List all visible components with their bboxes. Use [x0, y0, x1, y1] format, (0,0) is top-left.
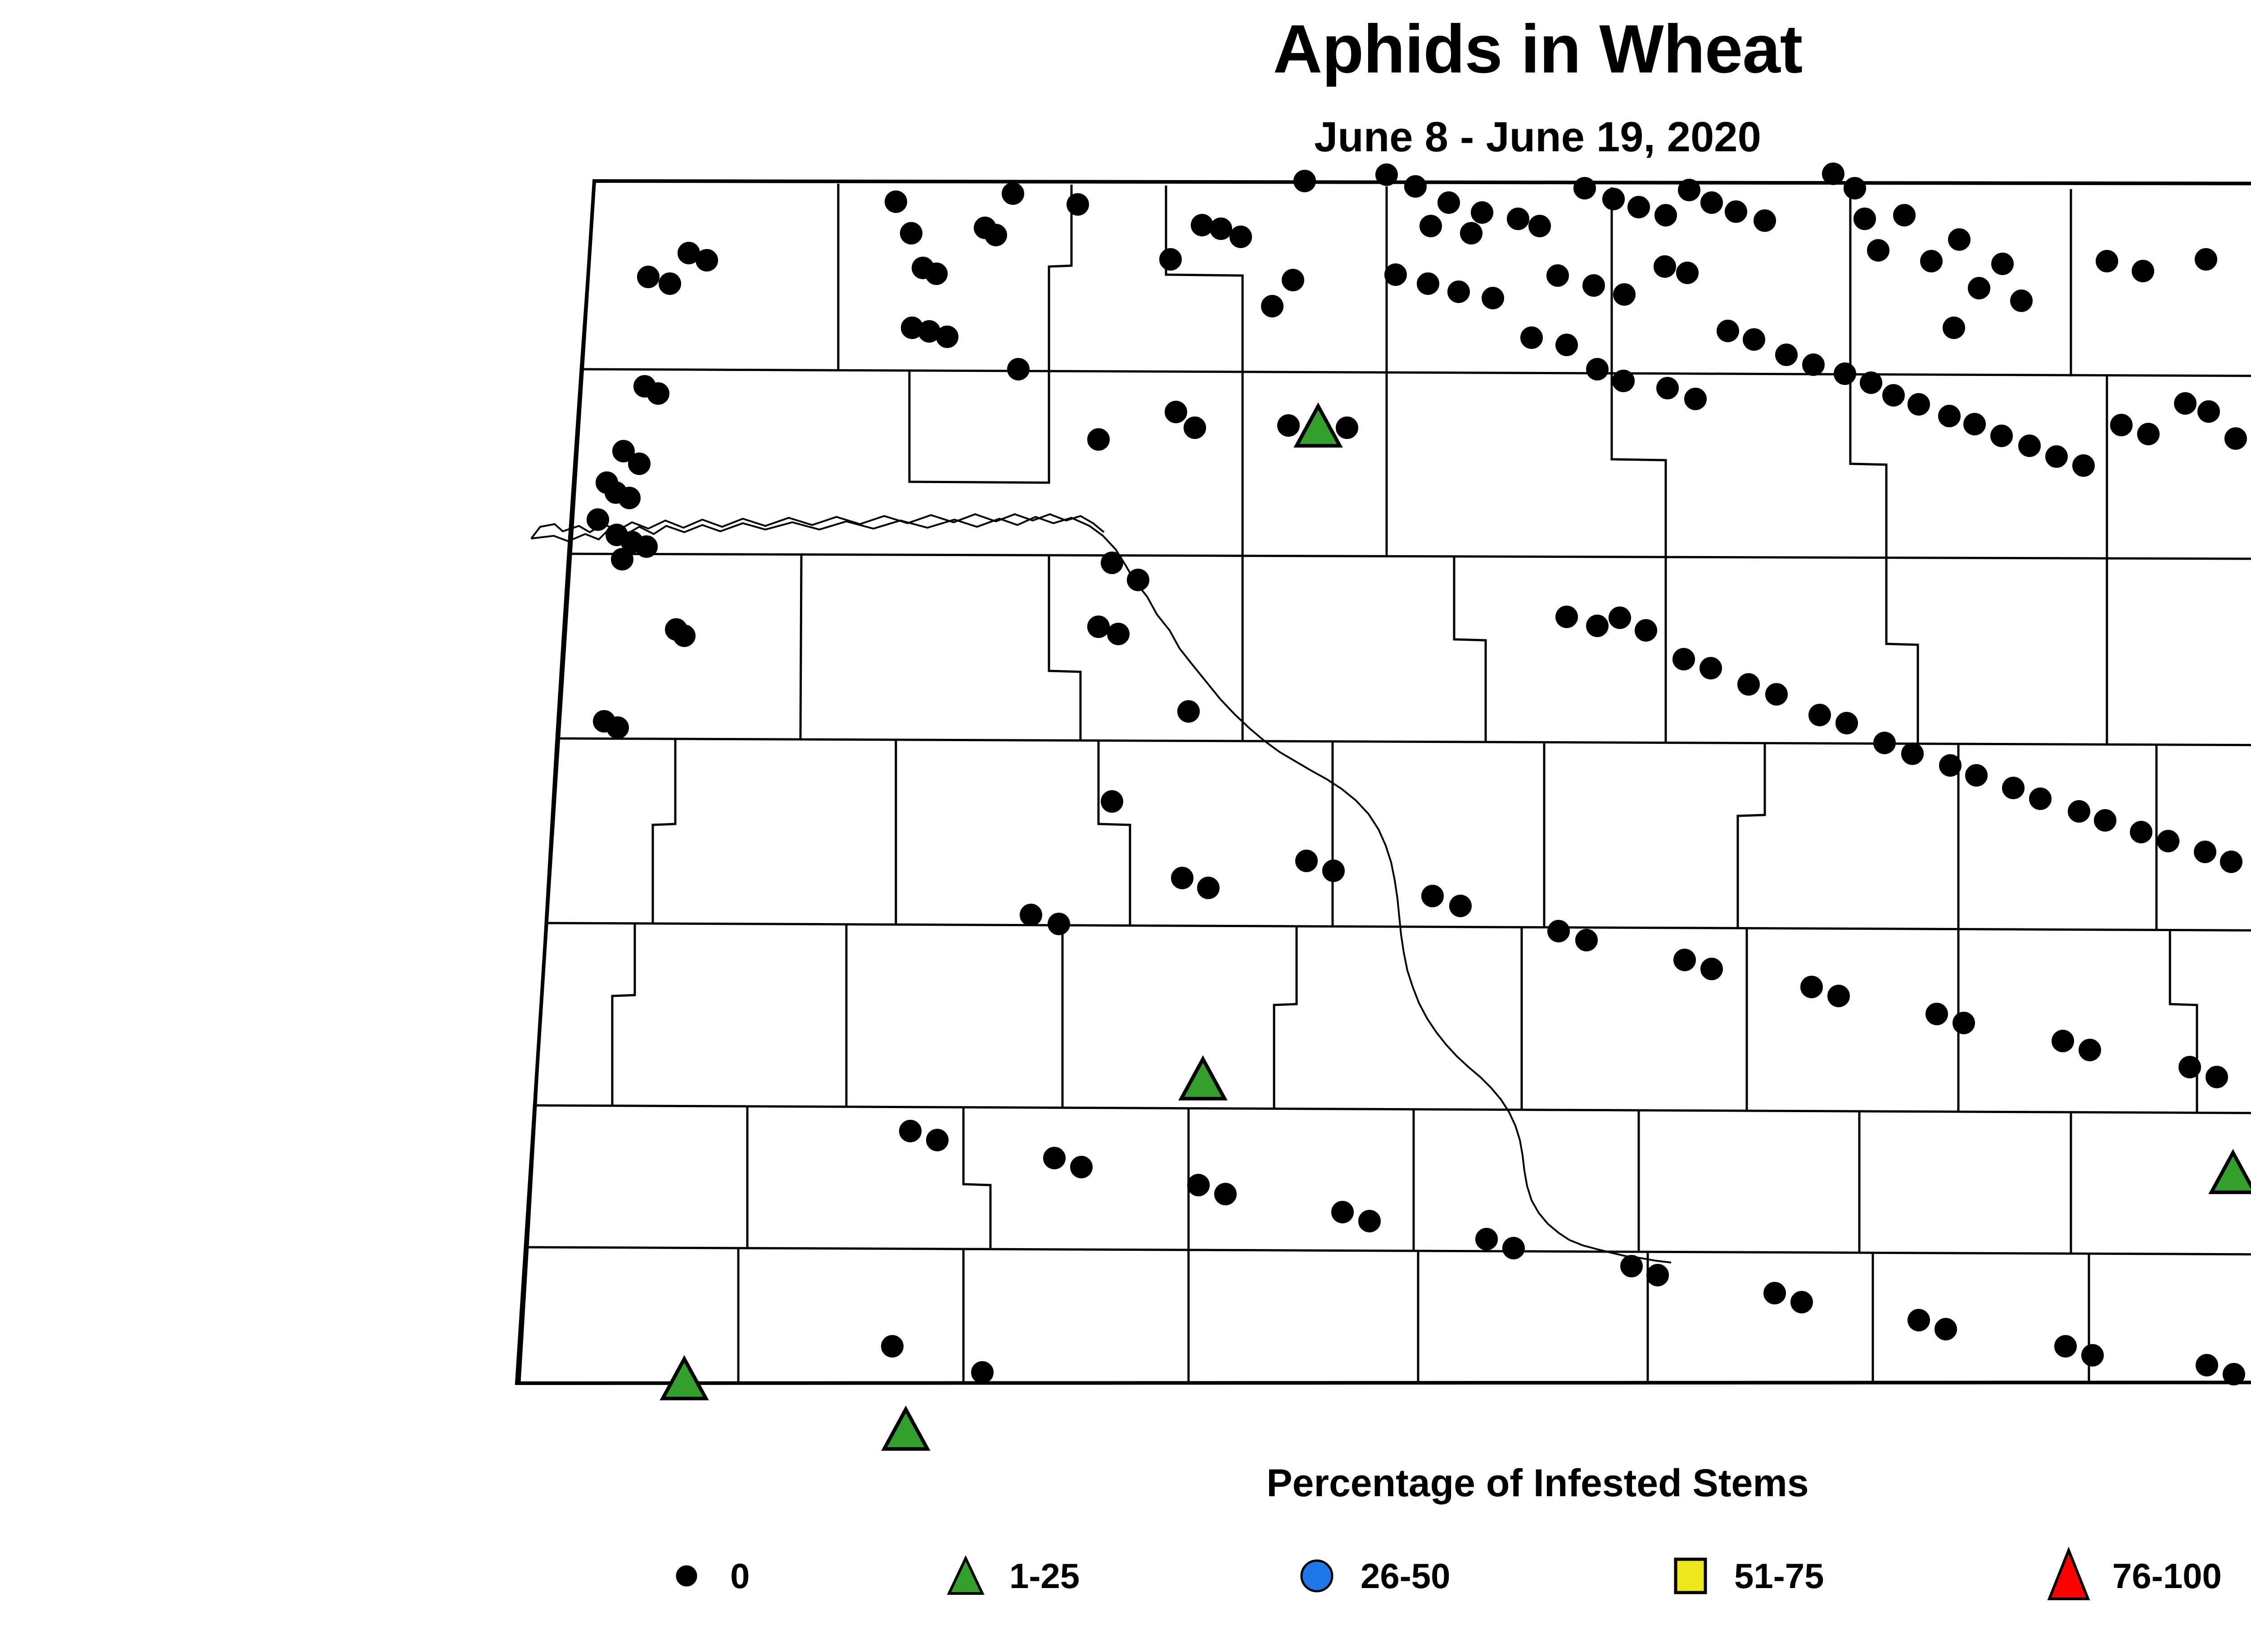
- survey-point: [2196, 1354, 2218, 1376]
- county-line-r2f: [1850, 376, 1886, 558]
- survey-point: [628, 453, 650, 475]
- survey-point: [2079, 1039, 2101, 1061]
- survey-point: [1165, 401, 1187, 423]
- survey-point: [2179, 1056, 2201, 1078]
- legend-label-2: 26-50: [1361, 1556, 1451, 1597]
- survey-point: [885, 191, 907, 213]
- survey-point: [1673, 648, 1695, 670]
- survey-point: [1422, 885, 1443, 907]
- survey-point: [1717, 320, 1739, 342]
- survey-point: [1700, 657, 1722, 679]
- survey-point: [1894, 204, 1915, 226]
- survey-point: [2225, 428, 2246, 449]
- north-dakota-map: [0, 149, 2251, 1454]
- survey-point: [1738, 674, 1759, 695]
- county-row-4: [547, 923, 2251, 931]
- survey-point: [1048, 913, 1070, 935]
- survey-point: [2130, 821, 2152, 843]
- legend-item-2[interactable]: 26-50: [1283, 1531, 1451, 1621]
- survey-point: [673, 625, 695, 647]
- survey-point: [1548, 920, 1569, 942]
- survey-point: [1332, 1201, 1353, 1223]
- survey-point: [1230, 226, 1252, 248]
- legend-label-3: 51-75: [1734, 1556, 1824, 1597]
- survey-point: [1926, 1003, 1948, 1025]
- survey-point: [1376, 164, 1397, 186]
- legend-item-3[interactable]: 51-75: [1657, 1531, 1824, 1621]
- county-line-r2b: [909, 370, 1049, 483]
- map-geometry: [517, 181, 2251, 1383]
- survey-point: [1101, 552, 1123, 574]
- survey-marker-triangle: [2211, 1153, 2251, 1192]
- survey-point: [1002, 183, 1024, 204]
- survey-point: [1939, 755, 1961, 776]
- county-line-r4g: [1738, 743, 1765, 928]
- survey-point: [2082, 1344, 2103, 1366]
- county-row-1: [582, 369, 2251, 376]
- survey-point: [1587, 358, 1608, 380]
- survey-point: [1654, 256, 1676, 277]
- survey-point: [1754, 210, 1776, 231]
- survey-point: [2055, 1335, 2076, 1357]
- survey-point: [1101, 791, 1123, 812]
- survey-point: [1556, 606, 1578, 628]
- survey-point: [900, 222, 922, 244]
- survey-point: [1635, 620, 1657, 641]
- survey-point: [1809, 704, 1831, 726]
- legend-label-4: 76-100: [2112, 1556, 2222, 1597]
- county-line-r2e: [1612, 375, 1666, 556]
- survey-point: [2220, 851, 2242, 873]
- survey-point: [1883, 385, 1904, 406]
- survey-point: [1282, 269, 1304, 291]
- survey-point: [1743, 329, 1765, 350]
- survey-marker-triangle: [884, 1409, 927, 1449]
- survey-point: [1359, 1210, 1380, 1232]
- county-row-2: [569, 554, 2251, 559]
- survey-point: [1576, 929, 1597, 951]
- survey-point: [1655, 204, 1677, 226]
- survey-point: [2052, 1030, 2074, 1052]
- survey-point: [1801, 976, 1822, 998]
- survey-point: [2195, 249, 2217, 270]
- survey-point: [636, 536, 657, 557]
- map-page: Aphids in Wheat June 8 - June 19, 2020: [0, 0, 2251, 1652]
- legend-title: Percentage of Infested Stems: [0, 1461, 2251, 1506]
- survey-point: [1964, 413, 1985, 435]
- survey-point: [2096, 250, 2118, 272]
- survey-point: [1948, 229, 1970, 250]
- state-outline: [517, 181, 2251, 1383]
- survey-point: [1828, 985, 1849, 1007]
- survey-point: [1968, 277, 1990, 299]
- survey-point: [1860, 372, 1882, 394]
- survey-points-zero: [587, 163, 2251, 1385]
- legend-label-0: 0: [730, 1556, 750, 1597]
- survey-point: [1127, 569, 1149, 591]
- county-line-n4: [1166, 186, 1243, 373]
- survey-point: [1020, 904, 1042, 926]
- survey-point: [1215, 1183, 1236, 1205]
- county-line-r3a: [556, 554, 568, 738]
- county-line-r3g: [1886, 558, 1918, 744]
- survey-point: [1943, 317, 1965, 339]
- survey-point: [926, 263, 947, 285]
- county-row-3: [557, 738, 2251, 746]
- county-line-r4a: [546, 738, 556, 923]
- survey-point: [1088, 429, 1109, 450]
- survey-point: [1587, 615, 1608, 637]
- survey-point: [1160, 249, 1181, 270]
- survey-point: [881, 1335, 903, 1357]
- legend-square-yellow-icon: [1657, 1540, 1724, 1612]
- survey-marker-triangle: [1297, 406, 1340, 446]
- survey-marker-triangle: [663, 1359, 706, 1399]
- survey-point: [972, 1362, 993, 1383]
- survey-point: [1278, 415, 1299, 436]
- survey-point: [1450, 895, 1471, 917]
- county-line-r5i: [2170, 930, 2197, 1113]
- survey-point: [2030, 788, 2051, 810]
- county-line-r5a: [536, 923, 546, 1105]
- survey-point: [1609, 607, 1631, 629]
- survey-point: [1921, 250, 1942, 272]
- survey-point: [1471, 202, 1493, 223]
- survey-point: [1685, 388, 1706, 410]
- survey-point: [1210, 218, 1232, 240]
- survey-point: [607, 717, 628, 738]
- survey-point: [927, 1129, 948, 1151]
- survey-point: [1674, 949, 1695, 971]
- legend-item-1[interactable]: 1-25: [932, 1531, 1080, 1621]
- survey-point: [2198, 401, 2219, 422]
- county-line-r5e: [1274, 926, 1297, 1109]
- survey-point: [1701, 958, 1722, 980]
- survey-point: [1953, 1012, 1975, 1034]
- survey-point: [1503, 1237, 1524, 1259]
- survey-point: [1791, 1291, 1813, 1313]
- survey-point: [1603, 188, 1624, 210]
- survey-point: [2094, 810, 2116, 831]
- survey-point: [637, 266, 659, 288]
- survey-point: [2194, 841, 2216, 863]
- legend: 0 1-25 26-50 51-75 76-100: [653, 1531, 2251, 1630]
- survey-point: [1188, 1174, 1209, 1196]
- survey-point: [1908, 1309, 1930, 1331]
- survey-point: [1822, 163, 1844, 185]
- county-line-r5b: [612, 923, 635, 1107]
- county-line-n3: [1049, 185, 1071, 370]
- survey-point: [2206, 1066, 2228, 1088]
- county-row-5: [537, 1105, 2251, 1114]
- survey-point: [1874, 732, 1895, 754]
- county-line-r6c: [963, 1107, 990, 1249]
- survey-point: [2011, 290, 2032, 312]
- survey-point: [1405, 176, 1426, 197]
- survey-point: [619, 487, 640, 509]
- survey-point: [1834, 363, 1856, 385]
- survey-point: [2002, 777, 2024, 799]
- legend-circle-icon: [653, 1540, 720, 1612]
- county-line-r3b: [800, 555, 801, 739]
- legend-triangle-green-icon: [932, 1540, 999, 1612]
- county-line-r4d: [1098, 740, 1130, 926]
- survey-point: [2068, 801, 2090, 822]
- survey-point: [1844, 177, 1866, 199]
- survey-point: [659, 273, 681, 294]
- survey-point: [1417, 273, 1439, 294]
- survey-point: [1764, 1282, 1785, 1304]
- survey-point: [1198, 877, 1219, 899]
- county-line-r3e: [1454, 556, 1486, 742]
- survey-point: [647, 383, 669, 404]
- survey-point: [1939, 405, 1960, 427]
- survey-point: [1621, 1255, 1642, 1277]
- survey-point: [1448, 281, 1469, 303]
- survey-point: [985, 224, 1007, 246]
- survey-point: [1628, 196, 1650, 218]
- survey-point: [1296, 850, 1317, 872]
- survey-point: [1657, 377, 1678, 399]
- survey-point: [696, 249, 718, 271]
- survey-point: [1836, 712, 1858, 734]
- survey-point: [1385, 264, 1406, 285]
- survey-point: [1088, 616, 1109, 638]
- legend-triangle-red-icon: [2035, 1540, 2102, 1612]
- survey-point: [1178, 701, 1199, 722]
- survey-point: [1438, 192, 1460, 213]
- survey-point: [1521, 327, 1542, 349]
- survey-point: [1067, 194, 1089, 215]
- survey-point: [1966, 765, 1987, 786]
- survey-point: [1725, 201, 1747, 222]
- survey-point: [2174, 393, 2196, 414]
- survey-point: [1529, 215, 1550, 237]
- survey-point: [1323, 860, 1344, 882]
- survey-point: [2019, 435, 2040, 457]
- survey-point: [2223, 1363, 2245, 1385]
- legend-label-1: 1-25: [1009, 1556, 1080, 1597]
- survey-point: [1803, 354, 1824, 376]
- county-line-r3c: [1049, 555, 1080, 740]
- page-title: Aphids in Wheat: [0, 14, 2251, 86]
- county-row-6: [529, 1247, 2251, 1255]
- survey-point: [936, 326, 958, 348]
- survey-point: [1647, 1264, 1668, 1286]
- survey-point: [1935, 1318, 1957, 1340]
- survey-point: [1556, 334, 1578, 356]
- survey-point: [1008, 358, 1029, 380]
- survey-point: [2073, 455, 2094, 476]
- survey-point: [1677, 262, 1698, 284]
- survey-point: [1992, 253, 2013, 275]
- legend-circle-blue-icon: [1283, 1540, 1351, 1612]
- legend-item-0[interactable]: 0: [653, 1531, 750, 1621]
- county-line-n1: [581, 181, 594, 369]
- survey-point: [1191, 214, 1213, 236]
- survey-point: [1261, 295, 1283, 317]
- survey-point: [1336, 417, 1358, 439]
- survey-point: [1574, 177, 1596, 199]
- survey-point: [1107, 623, 1129, 645]
- survey-point: [1482, 287, 1504, 309]
- survey-point: [587, 509, 609, 530]
- survey-marker-triangle: [1181, 1059, 1225, 1099]
- survey-point: [1547, 265, 1568, 286]
- survey-point: [1854, 208, 1876, 230]
- survey-point: [2157, 830, 2179, 852]
- survey-point: [2138, 423, 2159, 445]
- legend-item-4[interactable]: 76-100: [2035, 1531, 2222, 1621]
- survey-point: [1766, 683, 1787, 705]
- survey-point: [1902, 743, 1923, 765]
- survey-point: [1583, 275, 1605, 296]
- survey-point: [2046, 446, 2067, 467]
- survey-point: [1460, 222, 1482, 244]
- survey-point: [1044, 1147, 1065, 1169]
- survey-point: [1071, 1156, 1092, 1178]
- survey-point: [899, 1120, 921, 1142]
- survey-point: [1476, 1228, 1497, 1250]
- survey-point: [1613, 370, 1634, 392]
- survey-point: [2132, 260, 2154, 282]
- survey-point: [2111, 414, 2132, 436]
- survey-point: [1908, 394, 1930, 415]
- survey-point: [1507, 208, 1529, 230]
- survey-point: [1420, 215, 1442, 237]
- survey-point: [1184, 417, 1206, 439]
- survey-point: [1776, 344, 1797, 366]
- survey-point: [1701, 192, 1722, 213]
- survey-point: [611, 548, 633, 570]
- survey-point: [1678, 179, 1700, 201]
- county-line-r4b: [653, 739, 675, 924]
- survey-point: [1991, 425, 2012, 447]
- survey-point: [1867, 240, 1889, 261]
- survey-point: [1294, 170, 1315, 192]
- survey-point: [1171, 867, 1193, 889]
- survey-point: [1614, 284, 1635, 305]
